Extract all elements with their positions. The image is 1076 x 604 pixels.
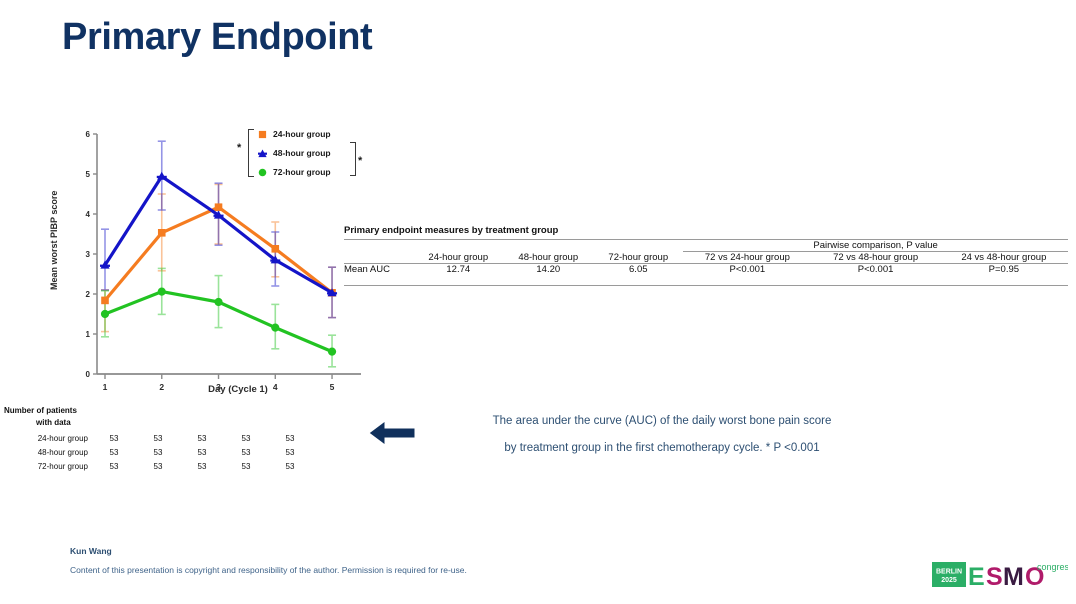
legend-label-24-hour-group: 24-hour group (273, 129, 331, 139)
patients-count-cell: 53 (136, 445, 180, 459)
series-marker (158, 229, 166, 237)
patients-row-label: 24-hour group (4, 431, 92, 445)
endpoint-table-header-row: 24-hour group 48-hour group 72-hour grou… (344, 252, 1068, 264)
page-title: Primary Endpoint (62, 16, 372, 59)
endpoint-data-cell: 6.05 (593, 264, 683, 276)
bottom-rule-cell (344, 275, 1068, 286)
legend-bracket-right (350, 142, 356, 176)
square-marker-icon (258, 130, 267, 139)
header-48-hour-group: 48-hour group (503, 252, 593, 264)
caption-line-2: by treatment group in the first chemothe… (447, 435, 877, 462)
endpoint-data-cell: P=0.95 (940, 264, 1068, 276)
y-axis-tick-label: 5 (86, 170, 91, 179)
patients-count-cell: 53 (180, 431, 224, 445)
y-axis-tick-label: 1 (86, 330, 91, 339)
caption-line-1: The area under the curve (AUC) of the da… (447, 408, 877, 435)
endpoint-table-grid: Pairwise comparison, P value 24-hour gro… (344, 239, 1068, 286)
logo-letter-e: E (968, 563, 985, 590)
patients-count-cell: 53 (92, 459, 136, 473)
chart-legend: * * 24-hour group 48-hour group 72-hour … (232, 126, 372, 184)
legend-item-24-hour-group[interactable]: 24-hour group (258, 126, 331, 142)
chart-x-axis-label: Day (Cycle 1) (143, 384, 333, 395)
esmo-congress-logo: BERLIN 2025 E S M O congress (932, 558, 1068, 590)
y-axis-tick-label: 4 (86, 210, 91, 219)
table-row: 24-hour group5353535353 (4, 431, 312, 445)
header-blank (344, 252, 413, 264)
logo-letter-m: M (1003, 563, 1024, 590)
legend-label-72-hour-group: 72-hour group (273, 167, 331, 177)
legend-item-48-hour-group[interactable]: 48-hour group (258, 145, 331, 161)
x-axis-tick-label: 1 (103, 382, 108, 392)
patients-count-cell: 53 (92, 445, 136, 459)
series-marker (328, 348, 336, 356)
left-arrow-icon (368, 418, 416, 448)
patients-with-data-table: Number of patients with data 24-hour gro… (4, 405, 312, 473)
header-72-vs-24-hour-group: 72 vs 24-hour group (683, 252, 811, 264)
y-axis-tick-label: 3 (86, 250, 91, 259)
significance-star-left: * (237, 143, 241, 154)
patients-row-label: 72-hour group (4, 459, 92, 473)
header-24-hour-group: 24-hour group (413, 252, 503, 264)
endpoint-data-cell: 12.74 (413, 264, 503, 276)
legend-label-48-hour-group: 48-hour group (273, 148, 331, 158)
circle-marker-icon (258, 168, 267, 177)
patients-table-header-line2: with data (4, 417, 312, 429)
endpoint-data-cell: 14.20 (503, 264, 593, 276)
series-marker-bar (327, 292, 337, 294)
pairwise-comparison-span-header: Pairwise comparison, P value (683, 240, 1068, 252)
table-row: Mean AUC12.7414.206.05P<0.001P<0.001P=0.… (344, 264, 1068, 276)
y-axis-tick-label: 6 (86, 130, 91, 139)
series-marker-bar (214, 215, 224, 217)
series-marker-bar (157, 176, 167, 178)
endpoint-table-span-row: Pairwise comparison, P value (344, 240, 1068, 252)
logo-letter-s: S (986, 563, 1003, 590)
series-marker (215, 203, 223, 211)
logo-year-text: 2025 (941, 577, 957, 584)
spacer-cell (413, 240, 503, 252)
patients-count-cell: 53 (180, 445, 224, 459)
series-marker (101, 310, 109, 318)
patients-count-cell: 53 (268, 459, 312, 473)
patients-count-cell: 53 (92, 431, 136, 445)
patients-table-header-line1: Number of patients (4, 405, 312, 417)
series-marker (271, 245, 279, 253)
patients-row-label: 48-hour group (4, 445, 92, 459)
endpoint-table-bottom-rule (344, 275, 1068, 286)
patients-table-grid: 24-hour group535353535348-hour group5353… (4, 431, 312, 473)
endpoint-row-label: Mean AUC (344, 264, 413, 276)
endpoint-measures-table: Primary endpoint measures by treatment g… (344, 225, 1068, 286)
triangle-marker-icon (258, 149, 267, 158)
legend-bracket-left (248, 129, 254, 177)
patients-count-cell: 53 (136, 459, 180, 473)
header-24-vs-48-hour-group: 24 vs 48-hour group (940, 252, 1068, 264)
series-marker (271, 324, 279, 332)
patients-count-cell: 53 (136, 431, 180, 445)
endpoint-data-cell: P<0.001 (683, 264, 811, 276)
header-72-vs-48-hour-group: 72 vs 48-hour group (811, 252, 939, 264)
endpoint-data-cell: P<0.001 (811, 264, 939, 276)
series-marker-bar (270, 259, 280, 261)
footer-author: Kun Wang (70, 546, 112, 556)
patients-count-cell: 53 (224, 431, 268, 445)
patients-count-cell: 53 (180, 459, 224, 473)
spacer-cell (503, 240, 593, 252)
series-marker (158, 288, 166, 296)
patients-count-cell: 53 (224, 445, 268, 459)
y-axis-tick-label: 0 (86, 370, 91, 379)
chart-y-axis-label: Mean worst PIBP score (49, 191, 59, 290)
header-72-hour-group: 72-hour group (593, 252, 683, 264)
series-marker-bar (100, 265, 110, 267)
significance-star-right: * (358, 156, 362, 167)
series-marker (214, 298, 222, 306)
legend-item-72-hour-group[interactable]: 72-hour group (258, 164, 331, 180)
logo-city-text: BERLIN (936, 569, 962, 576)
y-axis-tick-label: 2 (86, 290, 91, 299)
figure-caption: The area under the curve (AUC) of the da… (447, 408, 877, 462)
footer-copyright: Content of this presentation is copyrigh… (70, 565, 467, 575)
endpoint-table-caption: Primary endpoint measures by treatment g… (344, 225, 1068, 239)
series-marker (101, 297, 109, 305)
table-row: 72-hour group5353535353 (4, 459, 312, 473)
patients-count-cell: 53 (268, 445, 312, 459)
spacer-cell (344, 240, 413, 252)
table-row: 48-hour group5353535353 (4, 445, 312, 459)
patients-count-cell: 53 (268, 431, 312, 445)
patients-count-cell: 53 (224, 459, 268, 473)
logo-suffix-text: congress (1037, 562, 1068, 572)
spacer-cell (593, 240, 683, 252)
